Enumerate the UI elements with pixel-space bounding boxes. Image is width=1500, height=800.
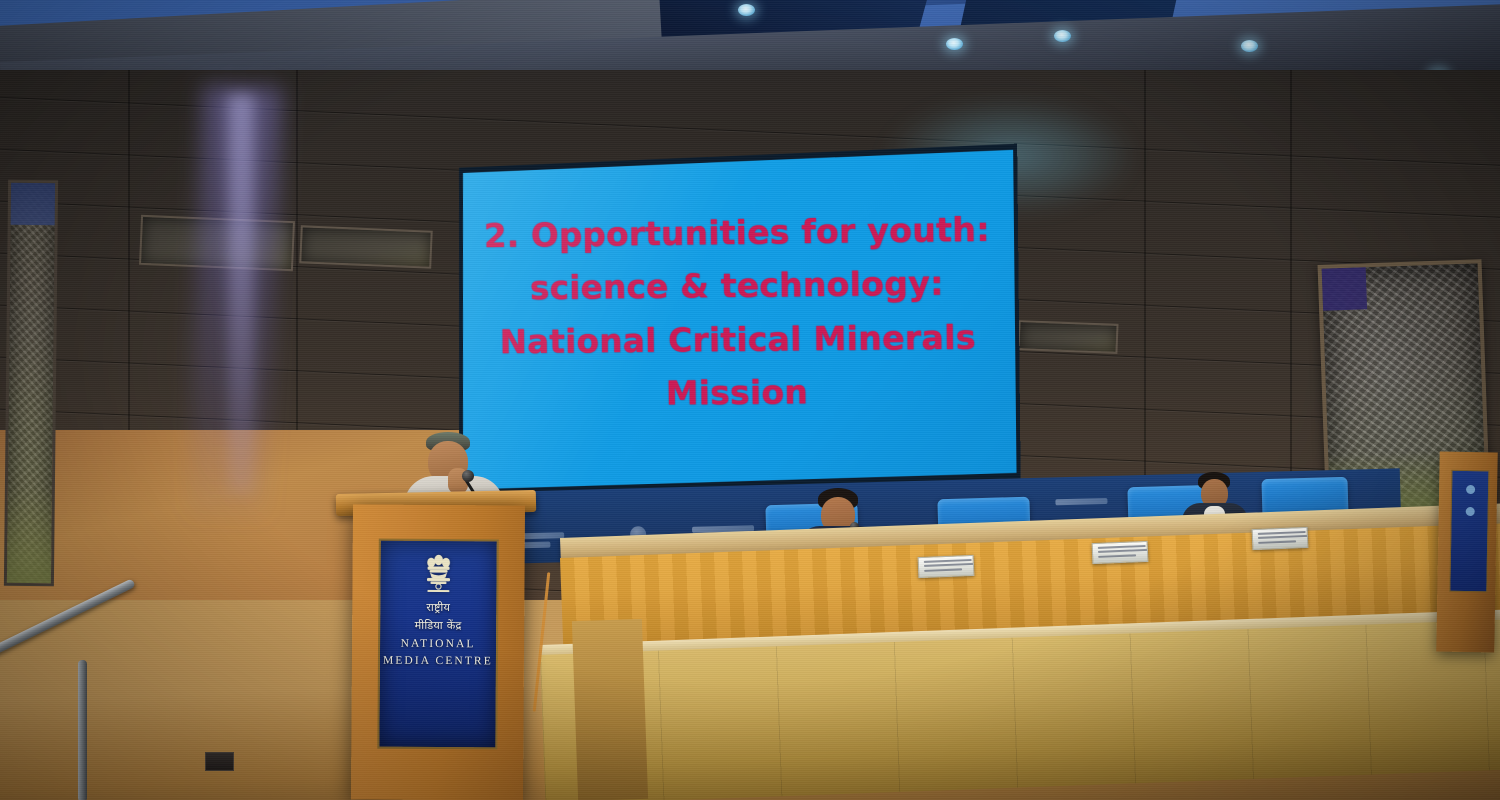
handrail-post (78, 660, 87, 800)
podium-english-line-2: MEDIA CENTRE (383, 654, 493, 667)
artwork-left-bottom-accent (7, 487, 52, 583)
ceiling-spotlight (1054, 30, 1071, 42)
secondary-podium-emblem-dot (1466, 485, 1475, 494)
ceiling-spotlight (946, 38, 963, 50)
backdrop-logo-left (520, 532, 564, 548)
secondary-podium-plate (1449, 470, 1489, 593)
slide-line-2: science & technology: (476, 256, 998, 315)
podium[interactable]: राष्ट्रीय मीडिया केंद्र NATIONAL MEDIA C… (351, 504, 525, 800)
podium-english-line-1: NATIONAL (401, 637, 476, 650)
press-conference-photo: 2. Opportunities for youth: science & te… (0, 0, 1500, 800)
backdrop-logo-right (1055, 498, 1107, 505)
wall-artwork-left (4, 180, 58, 587)
slide-line-1: 2. Opportunities for youth: (476, 202, 998, 262)
wall-panel-upper-centre (299, 225, 432, 268)
wall-power-socket (205, 752, 234, 771)
podium-signage-plate: राष्ट्रीय मीडिया केंद्र NATIONAL MEDIA C… (377, 539, 498, 750)
nameplate (1092, 541, 1149, 564)
podium-hindi-line-2: मीडिया केंद्र (415, 619, 462, 633)
screen-surface: 2. Opportunities for youth: science & te… (460, 150, 1017, 490)
table-side-step (572, 619, 648, 800)
ceiling-spotlight (1241, 40, 1258, 52)
secondary-podium[interactable] (1436, 452, 1497, 653)
wall-panel-upper-right (1017, 320, 1118, 354)
ceiling-spotlight (738, 4, 755, 16)
podium-hindi-line-1: राष्ट्रीय (426, 601, 450, 615)
secondary-podium-emblem-dot (1466, 507, 1475, 516)
slide-line-4: Mission (478, 364, 1000, 422)
ashoka-lion-capital-emblem (421, 551, 455, 597)
spotlight-beam-core (228, 94, 254, 494)
nameplate (1252, 527, 1309, 550)
artwork-right-blue-accent (1322, 267, 1367, 311)
artwork-left-top-accent (11, 183, 55, 225)
projection-screen[interactable]: 2. Opportunities for youth: science & te… (456, 144, 1021, 496)
microphone-head (462, 470, 474, 482)
slide-text-block: 2. Opportunities for youth: science & te… (460, 202, 1016, 422)
nameplate (918, 555, 975, 578)
slide-line-3: National Critical Minerals (477, 310, 999, 369)
